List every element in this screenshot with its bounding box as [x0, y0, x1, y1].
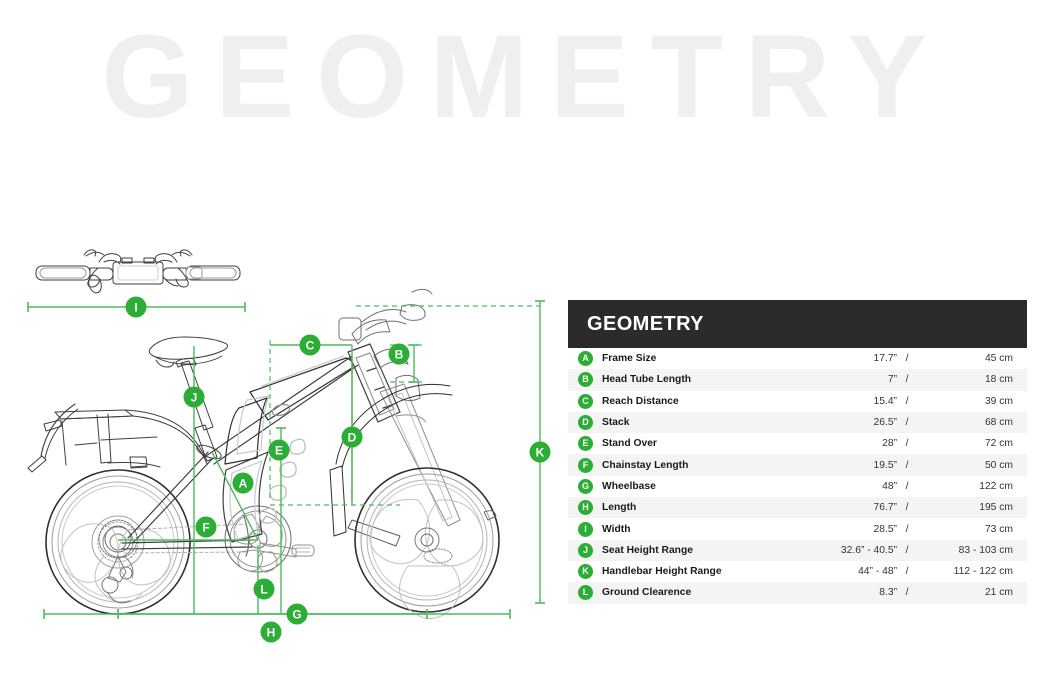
row-key-badge-e: E [578, 436, 593, 451]
row-label: Seat Height Range [602, 545, 769, 556]
row-value-imperial: 76.7” [769, 502, 897, 513]
table-row: KHandlebar Height Range44” - 48”/112 - 1… [568, 561, 1027, 582]
row-unit-separator: / [897, 438, 917, 449]
row-unit-separator: / [897, 566, 917, 577]
row-value-imperial: 19.5” [769, 460, 897, 471]
marker-label: G [292, 607, 301, 621]
geometry-table-header: GEOMETRY [568, 300, 1027, 348]
marker-label: F [202, 520, 209, 534]
row-value-imperial: 44” - 48” [769, 566, 897, 577]
saddle-drawing [149, 337, 227, 367]
row-unit-separator: / [897, 396, 917, 407]
frame-drawing [122, 344, 400, 556]
row-value-metric: 112 - 122 cm [917, 566, 1013, 577]
row-value-metric: 195 cm [917, 502, 1013, 513]
dimension-marker-g: G [287, 604, 308, 625]
row-value-metric: 72 cm [917, 438, 1013, 449]
marker-label: E [275, 443, 283, 457]
row-value-imperial: 17.7” [769, 353, 897, 364]
dimension-marker-b: B [389, 344, 410, 365]
row-unit-separator: / [897, 545, 917, 556]
row-unit-separator: / [897, 524, 917, 535]
row-label: Stand Over [602, 438, 769, 449]
row-key-badge-l: L [578, 585, 593, 600]
row-value-imperial: 15.4” [769, 396, 897, 407]
row-key-badge-d: D [578, 415, 593, 430]
row-value-metric: 50 cm [917, 460, 1013, 471]
panel-title: GEOMETRY [587, 313, 704, 336]
row-key-badge-j: J [578, 543, 593, 558]
row-value-metric: 39 cm [917, 396, 1013, 407]
dimension-marker-c: C [300, 335, 321, 356]
row-key-badge-b: B [578, 372, 593, 387]
row-unit-separator: / [897, 587, 917, 598]
row-key-badge-c: C [578, 394, 593, 409]
marker-label: A [239, 476, 248, 490]
handlebar-topview-drawing [36, 250, 240, 294]
row-label: Ground Clearence [602, 587, 769, 598]
row-value-metric: 21 cm [917, 587, 1013, 598]
dimension-marker-k: K [530, 442, 551, 463]
geometry-table-panel: GEOMETRY AFrame Size17.7”/45 cmBHead Tub… [568, 300, 1027, 604]
row-unit-separator: / [897, 502, 917, 513]
row-unit-separator: / [897, 374, 917, 385]
geometry-spec-sheet: GEOMETRY [0, 0, 1050, 700]
table-row: LGround Clearence8.3”/21 cm [568, 582, 1027, 603]
row-value-imperial: 7” [769, 374, 897, 385]
marker-label: D [348, 430, 357, 444]
row-key-badge-a: A [578, 351, 593, 366]
row-unit-separator: / [897, 460, 917, 471]
row-label: Stack [602, 417, 769, 428]
marker-label: B [395, 347, 404, 361]
row-label: Frame Size [602, 353, 769, 364]
row-label: Reach Distance [602, 396, 769, 407]
row-value-metric: 18 cm [917, 374, 1013, 385]
row-value-imperial: 32.6” - 40.5” [769, 545, 897, 556]
table-row: EStand Over28”/72 cm [568, 433, 1027, 454]
marker-label: J [191, 390, 198, 404]
row-label: Chainstay Length [602, 460, 769, 471]
table-row: IWidth28.5”/73 cm [568, 518, 1027, 539]
row-value-metric: 73 cm [917, 524, 1013, 535]
row-label: Width [602, 524, 769, 535]
table-row: AFrame Size17.7”/45 cm [568, 348, 1027, 369]
dimension-lines [28, 301, 545, 619]
dimension-marker-h: H [261, 622, 282, 643]
dimension-marker-f: F [196, 517, 217, 538]
table-row: JSeat Height Range32.6” - 40.5”/83 - 103… [568, 540, 1027, 561]
row-key-badge-h: H [578, 500, 593, 515]
dimension-marker-a: A [233, 473, 254, 494]
row-value-imperial: 28.5” [769, 524, 897, 535]
rear-derailleur-drawing [102, 556, 133, 603]
bicycle-geometry-diagram: ABCDEFGHIJKL [0, 0, 560, 700]
fork-drawing [330, 289, 460, 546]
row-unit-separator: / [897, 353, 917, 364]
dimension-marker-i: I [126, 297, 147, 318]
row-value-metric: 83 - 103 cm [917, 545, 1013, 556]
marker-label: C [306, 338, 315, 352]
row-label: Length [602, 502, 769, 513]
marker-label: K [536, 445, 545, 459]
row-value-imperial: 48” [769, 481, 897, 492]
marker-label: H [267, 625, 276, 639]
table-row: BHead Tube Length7”/18 cm [568, 369, 1027, 390]
dimension-marker-j: J [184, 387, 205, 408]
row-value-imperial: 8.3” [769, 587, 897, 598]
dimension-marker-e: E [269, 440, 290, 461]
table-row: HLength76.7”/195 cm [568, 497, 1027, 518]
row-label: Head Tube Length [602, 374, 769, 385]
row-value-metric: 122 cm [917, 481, 1013, 492]
row-key-badge-i: I [578, 522, 593, 537]
dimension-marker-d: D [342, 427, 363, 448]
table-row: GWheelbase48”/122 cm [568, 476, 1027, 497]
row-key-badge-k: K [578, 564, 593, 579]
table-row: DStack26.5”/68 cm [568, 412, 1027, 433]
row-key-badge-f: F [578, 458, 593, 473]
dimension-B [409, 345, 419, 382]
row-value-imperial: 28” [769, 438, 897, 449]
row-unit-separator: / [897, 481, 917, 492]
row-value-imperial: 26.5” [769, 417, 897, 428]
dimension-marker-group: ABCDEFGHIJKL [126, 297, 551, 643]
marker-label: I [134, 300, 137, 314]
row-label: Handlebar Height Range [602, 566, 769, 577]
rear-rack-drawing [44, 410, 207, 468]
row-label: Wheelbase [602, 481, 769, 492]
row-unit-separator: / [897, 417, 917, 428]
table-row: FChainstay Length19.5”/50 cm [568, 454, 1027, 475]
front-wheel-drawing [355, 468, 499, 619]
row-key-badge-g: G [578, 479, 593, 494]
row-value-metric: 68 cm [917, 417, 1013, 428]
marker-label: L [260, 582, 267, 596]
row-value-metric: 45 cm [917, 353, 1013, 364]
table-row: CReach Distance15.4”/39 cm [568, 391, 1027, 412]
dimension-marker-l: L [254, 579, 275, 600]
geometry-table-rows: AFrame Size17.7”/45 cmBHead Tube Length7… [568, 348, 1027, 604]
